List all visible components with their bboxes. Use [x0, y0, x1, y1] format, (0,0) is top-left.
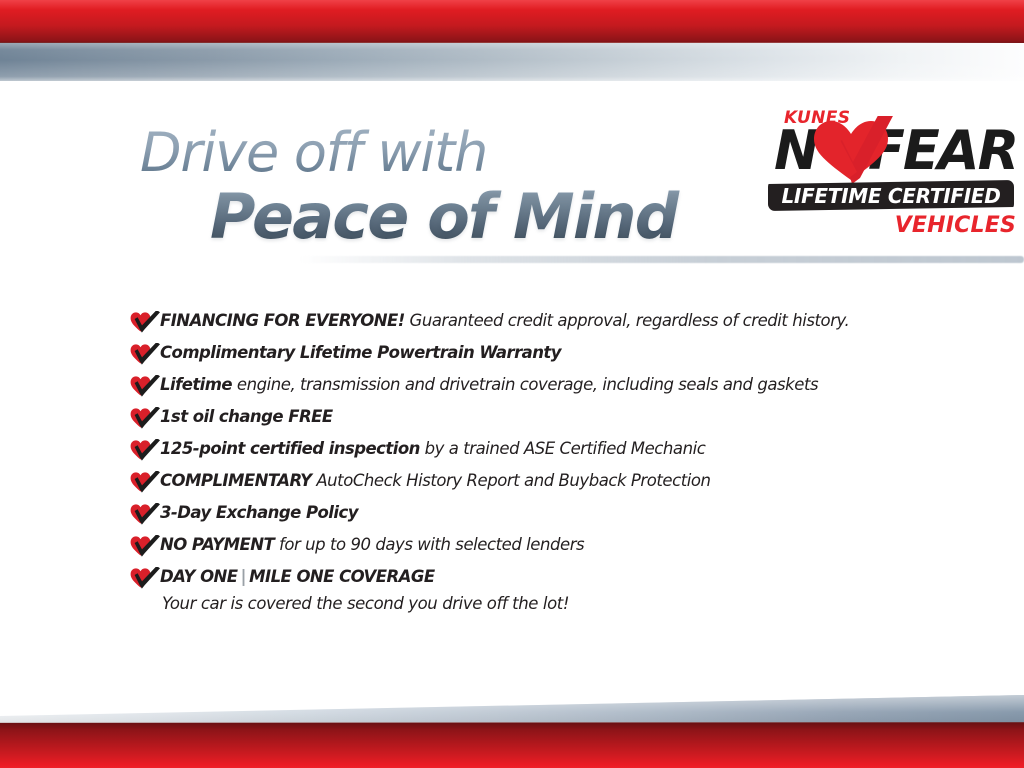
heart-check-bullet-icon	[130, 343, 160, 365]
heart-check-bullet-icon	[130, 343, 160, 365]
benefit-item-text: 1st oil change FREE	[160, 405, 333, 428]
heart-check-bullet-icon	[130, 407, 160, 429]
benefit-item-text: 3-Day Exchange Policy	[160, 501, 358, 524]
benefit-item: 3-Day Exchange Policy	[130, 501, 930, 533]
heart-check-bullet-icon	[130, 439, 160, 461]
logo-word-vehicles: VEHICLES	[895, 213, 1016, 238]
benefit-item-emphasis: Complimentary Lifetime Powertrain Warran…	[160, 343, 561, 362]
heart-check-bullet-icon	[130, 311, 160, 333]
bottom-decorative-bands	[0, 694, 1024, 768]
benefit-item-detail: by a trained ASE Certified Mechanic	[420, 439, 706, 458]
benefit-item-separator: |	[238, 567, 250, 586]
benefit-item-emphasis: DAY ONE	[160, 567, 238, 586]
benefit-item: FINANCING FOR EVERYONE! Guaranteed credi…	[130, 309, 930, 341]
header-divider	[300, 256, 1024, 263]
benefit-item-detail: Guaranteed credit approval, regardless o…	[405, 311, 850, 330]
benefit-item: NO PAYMENT for up to 90 days with select…	[130, 533, 930, 565]
heart-check-bullet-icon	[130, 471, 160, 493]
benefit-item: 125-point certified inspection by a trai…	[130, 437, 930, 469]
headline-line-secondary: Peace of Mind	[210, 186, 738, 248]
benefit-item-emphasis: 3-Day Exchange Policy	[160, 503, 358, 522]
top-decorative-bands	[0, 0, 1024, 86]
benefit-item: COMPLIMENTARY AutoCheck History Report a…	[130, 469, 930, 501]
heart-check-bullet-icon	[130, 471, 160, 493]
benefit-item-emphasis: 1st oil change FREE	[160, 407, 333, 426]
heart-check-bullet-icon	[130, 407, 160, 429]
headline-line-primary: Drive off with	[140, 126, 738, 180]
benefit-item-emphasis: COMPLIMENTARY	[160, 471, 312, 490]
benefit-item-detail: AutoCheck History Report and Buyback Pro…	[312, 471, 711, 490]
heart-check-bullet-icon	[130, 535, 160, 557]
heart-check-bullet-icon	[130, 311, 160, 333]
benefit-subline: Your car is covered the second you drive…	[162, 593, 569, 615]
logo-certified-bar-text: LIFETIME CERTIFIED	[768, 180, 1014, 211]
heart-check-bullet-icon	[130, 567, 160, 589]
heart-check-bullet-icon	[130, 375, 160, 397]
benefit-item-text: FINANCING FOR EVERYONE! Guaranteed credi…	[160, 309, 849, 332]
heart-check-bullet-icon	[130, 439, 160, 461]
benefit-item-emphasis: FINANCING FOR EVERYONE!	[160, 311, 405, 330]
benefit-item-detail: engine, transmission and drivetrain cove…	[232, 375, 818, 394]
benefit-item-text: NO PAYMENT for up to 90 days with select…	[160, 533, 584, 556]
benefit-item-emphasis: Lifetime	[160, 375, 232, 394]
benefit-item: Lifetime engine, transmission and drivet…	[130, 373, 930, 405]
kunes-no-fear-logo: KUNES N FEAR LIFETIME CERTIFIED VEHICLES	[766, 106, 1016, 246]
benefit-item-text: DAY ONE|MILE ONE COVERAGE	[160, 565, 435, 588]
heart-check-bullet-icon	[130, 503, 160, 525]
heart-check-bullet-icon	[130, 503, 160, 525]
heart-check-icon	[808, 116, 894, 188]
top-red-band	[0, 0, 1024, 44]
bottom-red-band	[0, 723, 1024, 768]
heart-check-bullet-icon	[130, 535, 160, 557]
benefit-item-text: COMPLIMENTARY AutoCheck History Report a…	[160, 469, 711, 492]
heart-check-bullet-icon	[130, 375, 160, 397]
headline-block: Drive off with Peace of Mind	[138, 126, 738, 248]
logo-nofear-wordmark: N FEAR	[772, 124, 1016, 184]
benefit-item-emphasis: NO PAYMENT	[160, 535, 274, 554]
heart-check-bullet-icon	[130, 567, 160, 589]
benefit-item: Complimentary Lifetime Powertrain Warran…	[130, 341, 930, 373]
benefit-item-text: 125-point certified inspection by a trai…	[160, 437, 705, 460]
benefit-item-emphasis-secondary: MILE ONE COVERAGE	[249, 567, 434, 586]
bottom-gray-band-sheen	[0, 694, 1024, 724]
benefit-item: 1st oil change FREE	[130, 405, 930, 437]
benefit-item-text: Lifetime engine, transmission and drivet…	[160, 373, 818, 396]
benefit-item-emphasis: 125-point certified inspection	[160, 439, 420, 458]
benefit-item-detail: for up to 90 days with selected lenders	[274, 535, 584, 554]
top-gray-band-sheen	[0, 43, 1024, 81]
benefits-list: FINANCING FOR EVERYONE! Guaranteed credi…	[130, 309, 930, 597]
benefit-item-text: Complimentary Lifetime Powertrain Warran…	[160, 341, 561, 364]
